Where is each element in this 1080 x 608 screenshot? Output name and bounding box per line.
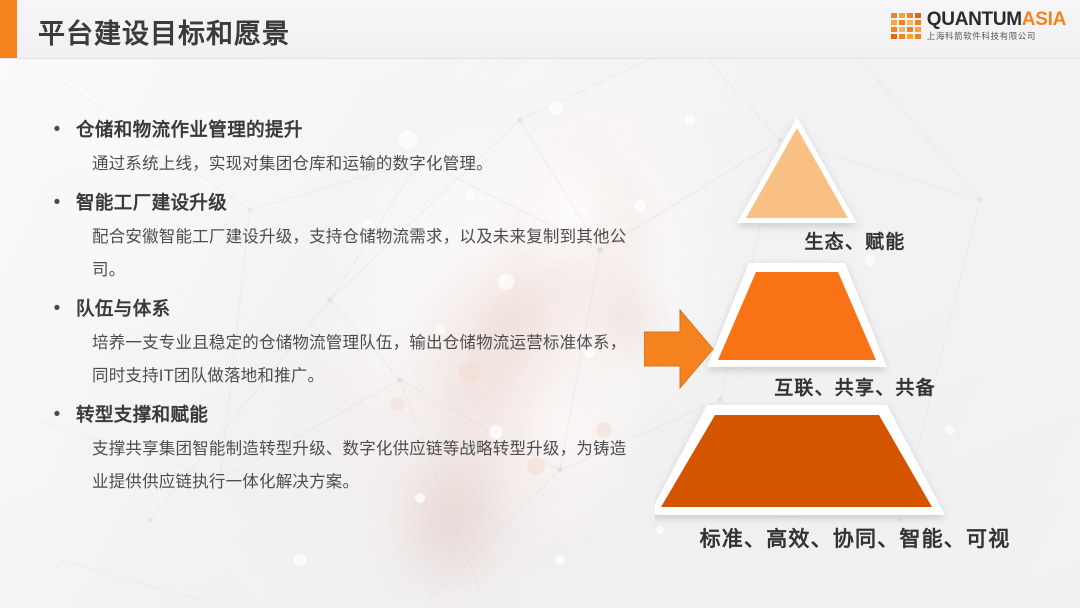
header-accent-bar: [0, 0, 17, 58]
logo-grid-icon: [891, 13, 921, 39]
bullet-body: 培养一支专业且稳定的仓储物流管理队伍，输出仓储物流运营标准体系，同时支持IT团队…: [92, 327, 627, 393]
bullet-item-2: • 智能工厂建设升级 配合安徽智能工厂建设升级，支持仓储物流需求，以及未来复制到…: [52, 191, 627, 287]
logo-text-block: QUANTUMASIA 上海科箭软件科技有限公司: [927, 10, 1066, 41]
bullet-list: • 仓储和物流作业管理的提升 通过系统上线，实现对集团仓库和运输的数字化管理。 …: [52, 118, 627, 509]
bullet-dot-icon: •: [52, 403, 62, 427]
bullet-title: 仓储和物流作业管理的提升: [76, 118, 303, 142]
bullet-title: 智能工厂建设升级: [76, 191, 227, 215]
pyramid-level-middle: [707, 263, 887, 367]
bullet-heading: • 仓储和物流作业管理的提升: [52, 118, 627, 142]
pyramid-label-top: 生态、赋能: [655, 227, 1055, 254]
bullet-body: 配合安徽智能工厂建设升级，支持仓储物流需求，以及未来复制到其他公司。: [92, 221, 627, 287]
company-logo: QUANTUMASIA 上海科箭软件科技有限公司: [891, 10, 1066, 41]
pyramid-level-bottom: [655, 405, 945, 515]
bullet-item-3: • 队伍与体系 培养一支专业且稳定的仓储物流管理队伍，输出仓储物流运营标准体系，…: [52, 297, 627, 393]
bullet-dot-icon: •: [52, 191, 62, 215]
bullet-heading: • 队伍与体系: [52, 297, 627, 321]
logo-company-name: 上海科箭软件科技有限公司: [927, 32, 1066, 41]
slide-header: 平台建设目标和愿景 QUANTUMASIA 上海科箭软件科技有限公司: [0, 0, 1080, 59]
pyramid-level-top: [737, 117, 857, 223]
logo-wordmark: QUANTUMASIA: [927, 10, 1066, 29]
bullet-heading: • 转型支撑和赋能: [52, 403, 627, 427]
bullet-item-4: • 转型支撑和赋能 支撑共享集团智能制造转型升级、数字化供应链等战略转型升级，为…: [52, 403, 627, 499]
bullet-heading: • 智能工厂建设升级: [52, 191, 627, 215]
pyramid-diagram: 生态、赋能 互联、共享、共备 标准、高效、协同、智能、可视: [655, 105, 1055, 575]
bullet-body: 通过系统上线，实现对集团仓库和运输的数字化管理。: [92, 148, 627, 181]
pyramid-label-middle: 互联、共享、共备: [655, 373, 1055, 400]
logo-brand-secondary: ASIA: [1022, 9, 1066, 30]
bullet-dot-icon: •: [52, 297, 62, 321]
pyramid-label-bottom: 标准、高效、协同、智能、可视: [655, 523, 1055, 553]
bullet-title: 转型支撑和赋能: [76, 403, 208, 427]
slide: 平台建设目标和愿景 QUANTUMASIA 上海科箭软件科技有限公司 • 仓储和…: [0, 0, 1080, 608]
bullet-item-1: • 仓储和物流作业管理的提升 通过系统上线，实现对集团仓库和运输的数字化管理。: [52, 118, 627, 181]
bullet-body: 支撑共享集团智能制造转型升级、数字化供应链等战略转型升级，为铸造业提供供应链执行…: [92, 433, 627, 499]
bullet-title: 队伍与体系: [76, 297, 171, 321]
pyramid-shapes-icon: [655, 105, 1055, 575]
bullet-dot-icon: •: [52, 118, 62, 142]
logo-brand-primary: QUANTUM: [927, 9, 1022, 30]
page-title: 平台建设目标和愿景: [38, 12, 290, 51]
